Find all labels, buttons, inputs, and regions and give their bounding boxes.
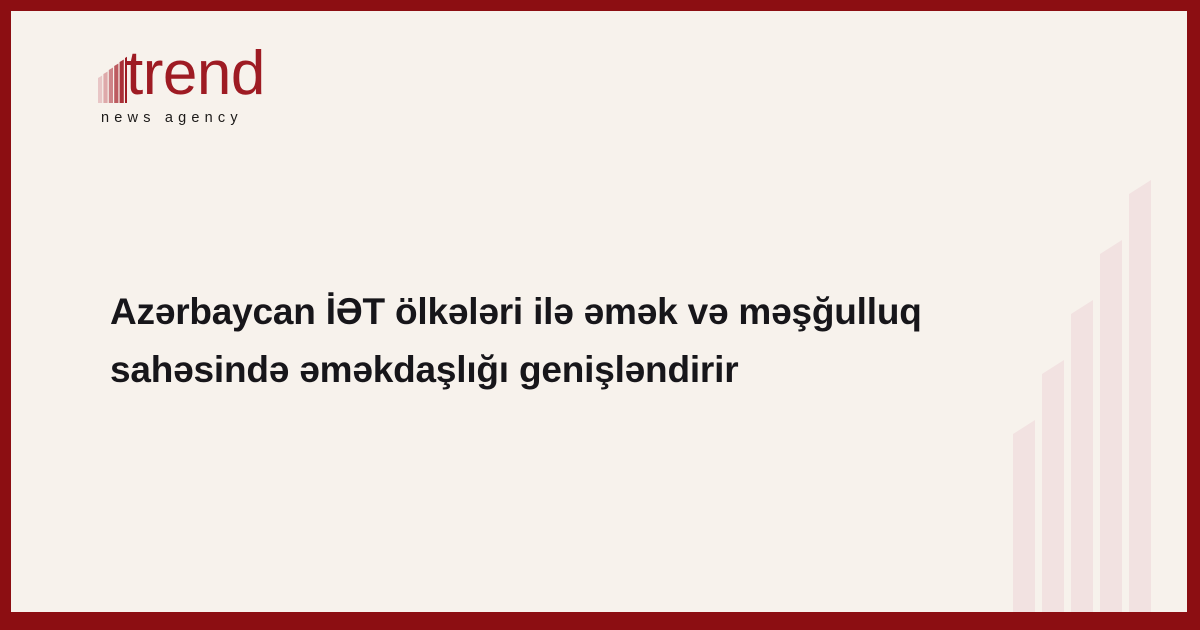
share-card: trend news agency Azərbaycan İƏT ölkələr… xyxy=(0,0,1200,630)
deco-bar xyxy=(1129,180,1151,612)
logo-wordmark: trend xyxy=(126,45,265,103)
deco-bar xyxy=(1042,360,1064,612)
deco-bar xyxy=(1013,420,1035,612)
logo-mark-row: trend xyxy=(98,45,273,103)
ascending-bars-decoration xyxy=(1013,182,1165,612)
ascending-bars-icon xyxy=(98,47,127,103)
page-title: Azərbaycan İƏT ölkələri ilə əmək və məşğ… xyxy=(110,283,990,399)
deco-bar xyxy=(1071,300,1093,612)
logo-tagline: news agency xyxy=(101,110,273,126)
deco-bar xyxy=(1100,240,1122,612)
trend-logo[interactable]: trend news agency xyxy=(98,45,273,126)
card-canvas: trend news agency Azərbaycan İƏT ölkələr… xyxy=(11,11,1187,612)
